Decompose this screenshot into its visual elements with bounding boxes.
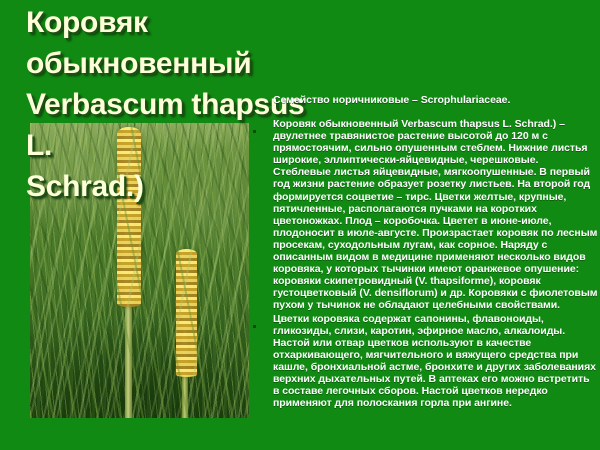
list-item: Семейство норичниковые – Scrophulariacea… — [253, 94, 598, 117]
list-item: Коровяк обыкновенный Verbascum thapsus L… — [253, 118, 598, 312]
bullet-square-icon — [253, 313, 273, 336]
bullet-square-icon — [253, 118, 273, 141]
list-item: Цветки коровяка содержат сапонины, флаво… — [253, 313, 598, 410]
bullet-square-icon — [253, 94, 273, 117]
bullet-text: Коровяк обыкновенный Verbascum thapsus L… — [273, 118, 598, 312]
bullet-text: Цветки коровяка содержат сапонины, флаво… — [273, 313, 598, 410]
bullet-text: Семейство норичниковые – Scrophulariacea… — [273, 94, 598, 106]
presentation-slide: Коровяк обыкновенный Verbascum thapsus L… — [0, 0, 600, 450]
bullet-list: Семейство норичниковые – Scrophulariacea… — [253, 94, 598, 410]
